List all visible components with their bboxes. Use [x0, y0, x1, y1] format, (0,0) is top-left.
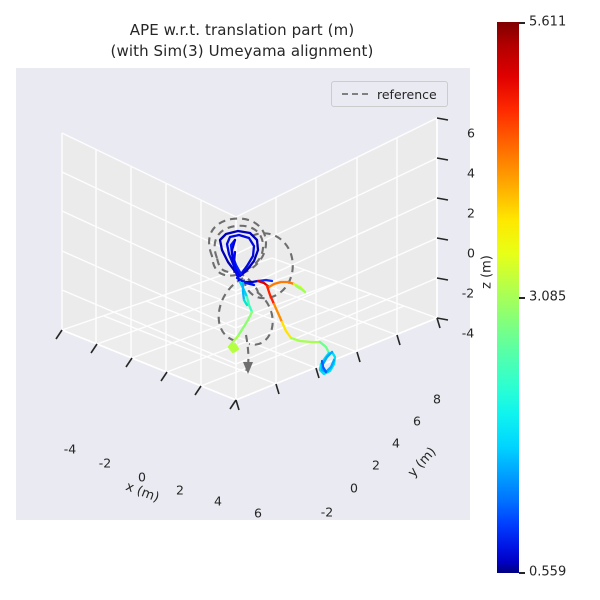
legend-line-swatch — [341, 89, 369, 99]
z-tick-label-4: 4 — [467, 166, 475, 181]
colorbar-tick-mid — [519, 297, 525, 299]
colorbar[interactable]: 5.611 3.085 0.559 — [497, 22, 519, 573]
y-tick-label-2: 2 — [372, 458, 380, 473]
figure-canvas: APE w.r.t. translation part (m) (with Si… — [0, 0, 600, 600]
z-tick-label-3: 2 — [467, 206, 475, 221]
z-axis-ticks — [437, 118, 448, 320]
z-tick-label-5: 6 — [467, 126, 475, 141]
x-tick-label-3: 2 — [176, 483, 184, 498]
y-tick-label-3: 4 — [392, 436, 400, 451]
z-axis-title: z (m) — [480, 250, 495, 294]
x-tick-label-4: 4 — [214, 494, 222, 509]
z-tick-label-1: -2 — [462, 286, 474, 301]
colorbar-label-max: 5.611 — [529, 15, 566, 30]
x-tick-label-1: -2 — [99, 456, 111, 471]
legend-label-reference: reference — [377, 87, 437, 102]
z-tick-label-2: 0 — [467, 246, 475, 261]
z-tick-label-0: -4 — [462, 326, 474, 341]
colorbar-jet-scale — [497, 22, 519, 573]
x-tick-label-0: -4 — [64, 442, 76, 457]
colorbar-label-min: 0.559 — [529, 565, 566, 580]
y-tick-label-0: -2 — [321, 505, 333, 520]
x-tick-label-2: 0 — [138, 470, 146, 485]
colorbar-tick-min — [519, 572, 525, 574]
x-tick-label-5: 6 — [254, 506, 262, 521]
y-tick-label-1: 0 — [350, 481, 358, 496]
colorbar-label-mid: 3.085 — [529, 290, 566, 305]
y-tick-label-5: 8 — [433, 392, 441, 407]
colorbar-tick-max — [519, 22, 525, 24]
y-tick-label-4: 6 — [413, 414, 421, 429]
legend[interactable]: reference — [331, 81, 448, 107]
